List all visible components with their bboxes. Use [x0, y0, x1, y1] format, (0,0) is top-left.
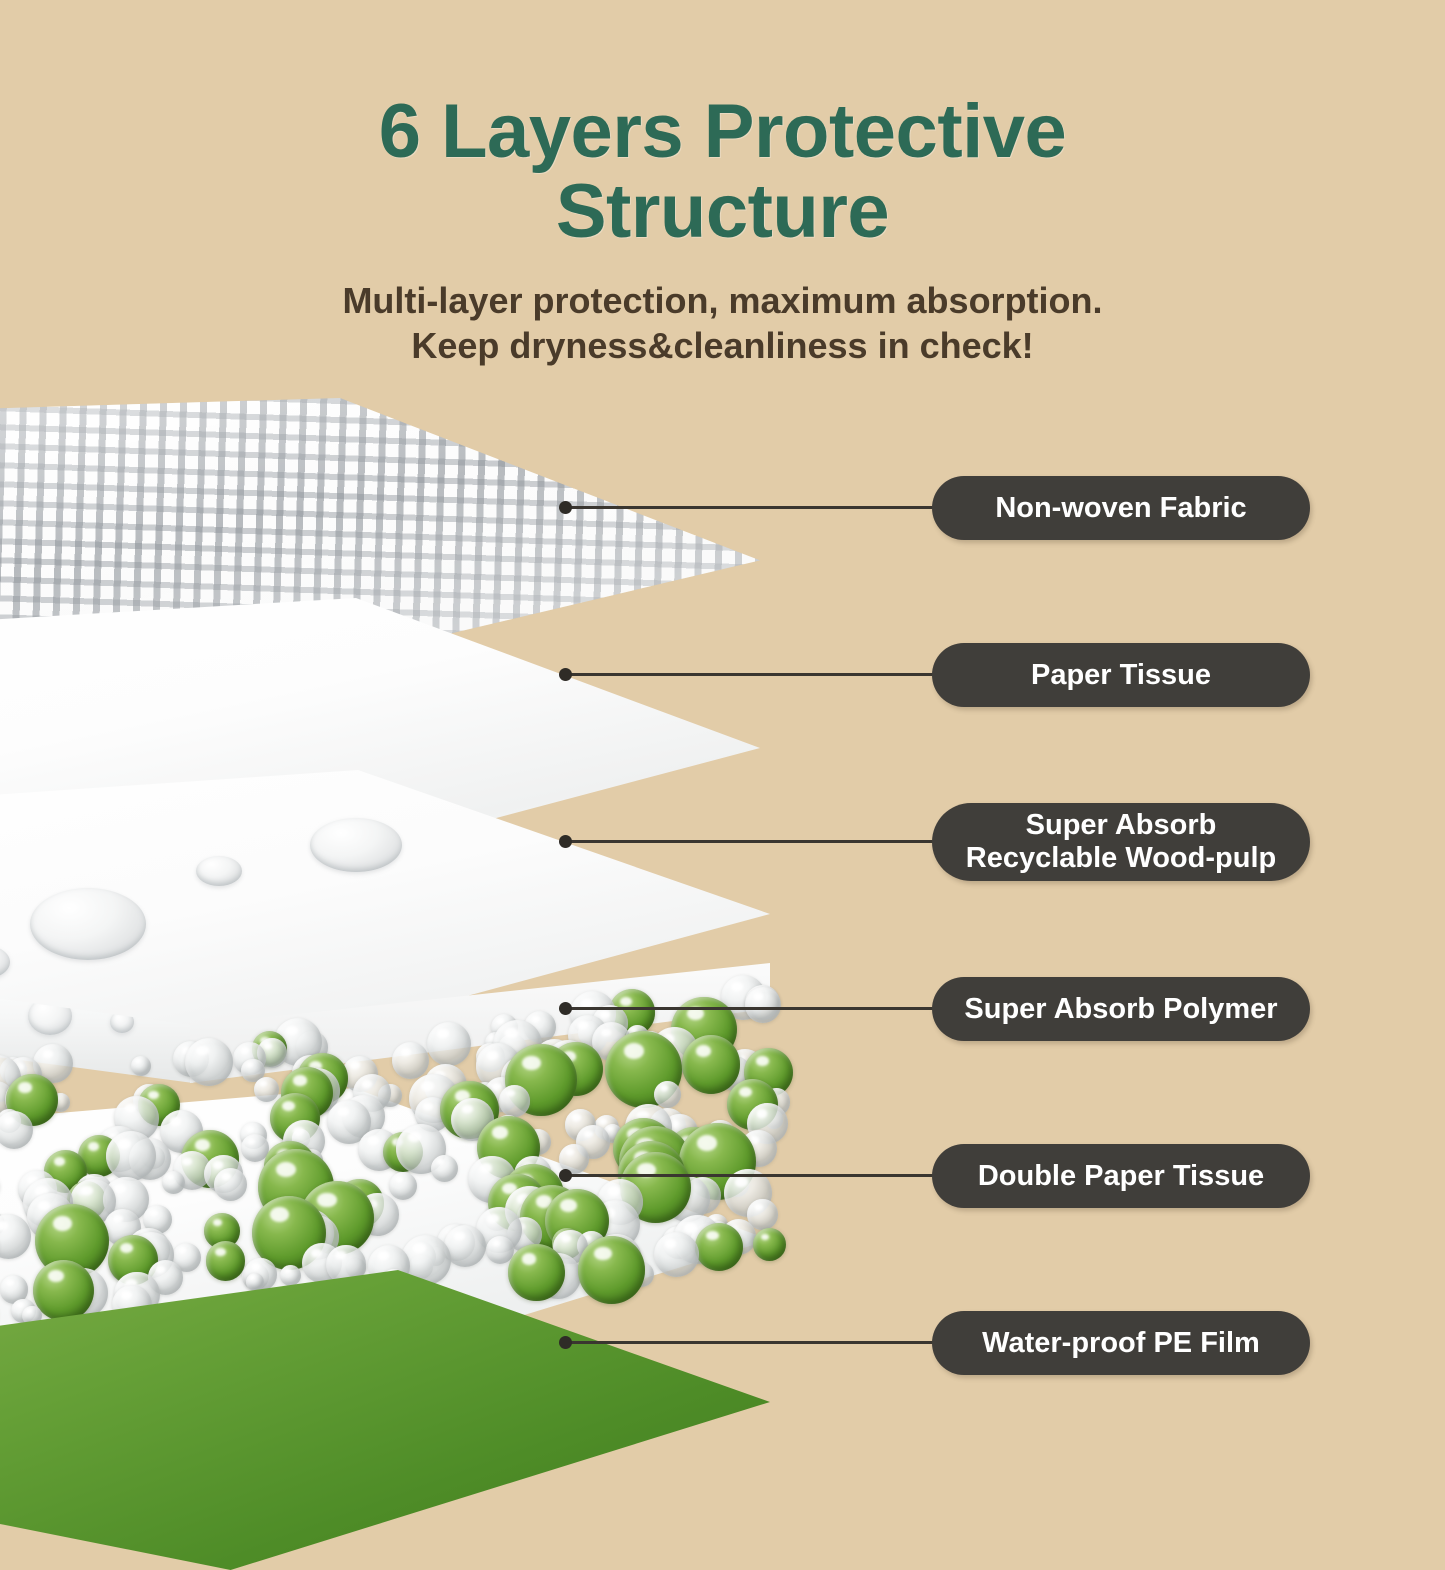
bead-highlight [378, 1251, 389, 1259]
polymer-bead [214, 1168, 247, 1201]
bead-highlight [118, 1139, 131, 1149]
bead-highlight [168, 1175, 174, 1180]
label-text-super-absorb-polymer: Super Absorb Polymer [964, 992, 1277, 1026]
bead-highlight [317, 1193, 336, 1208]
bead-highlight [572, 1114, 580, 1120]
bead-highlight [594, 1247, 612, 1261]
bead-highlight [493, 1240, 500, 1246]
leader-line-wood-pulp [564, 840, 936, 843]
bead-highlight [276, 1162, 296, 1177]
bead-highlight [522, 1056, 541, 1070]
bead-highlight [182, 1158, 192, 1166]
polymer-bead [246, 1273, 264, 1291]
label-pill-waterproof-pe-film[interactable]: Water-proof PE Film [932, 1311, 1310, 1375]
bead-highlight [608, 1127, 613, 1131]
polymer-bead [654, 1232, 699, 1277]
bead-highlight [665, 1239, 677, 1248]
polymer-bead [431, 1155, 458, 1182]
bead-highlight [293, 1127, 304, 1135]
bead-highlight [437, 1029, 448, 1038]
bead-highlight [462, 1105, 473, 1114]
leader-line-double-paper-tissue [564, 1174, 936, 1177]
bead-highlight [608, 1186, 620, 1195]
bead-highlight [731, 982, 743, 991]
bead-highlight [38, 1201, 50, 1210]
bead-highlight [246, 1126, 253, 1131]
polymer-bead [745, 987, 781, 1023]
polymer-bead [508, 1244, 565, 1301]
bead-highlight [578, 1021, 588, 1029]
label-text-wood-pulp-line-1: Super Absorb [1026, 809, 1217, 841]
leader-line-paper-tissue [564, 673, 936, 676]
bead-highlight [423, 1103, 432, 1110]
bead-highlight [600, 1011, 609, 1018]
bead-highlight [264, 1043, 272, 1049]
bead-highlight [179, 1247, 187, 1253]
layer-stack-illustration [0, 398, 820, 1445]
bead-highlight [6, 1280, 13, 1286]
bead-highlight [241, 1047, 250, 1054]
bead-highlight [260, 1081, 266, 1086]
bead-highlight [148, 1091, 159, 1099]
bead-highlight [335, 1251, 345, 1259]
label-text-waterproof-pe-film: Water-proof PE Film [982, 1326, 1260, 1360]
title-line-1: 6 Layers Protective [379, 89, 1067, 174]
polymer-bead [185, 1038, 233, 1086]
label-pill-wood-pulp[interactable]: Super Absorb Recyclable Wood-pulp [932, 803, 1310, 881]
bead-highlight [27, 1309, 32, 1313]
polymer-bead [392, 1042, 429, 1079]
bead-highlight [125, 1104, 137, 1113]
bead-highlight [156, 1266, 165, 1273]
bead-highlight [413, 1243, 426, 1253]
bead-highlight [338, 1107, 350, 1116]
polymer-bead [578, 1236, 646, 1304]
bead-highlight [761, 1234, 770, 1241]
bead-highlight [18, 1082, 31, 1092]
bead-highlight [136, 1059, 141, 1063]
bead-highlight [150, 1210, 158, 1216]
label-text-nonwoven-fabric: Non-woven Fabric [995, 491, 1246, 525]
bead-highlight [408, 1132, 421, 1142]
bead-highlight [624, 1043, 644, 1058]
bead-highlight [247, 1062, 253, 1067]
bead-highlight [362, 1080, 372, 1088]
subtitle-line-1: Multi-layer protection, maximum absorpti… [342, 280, 1102, 321]
bead-highlight [566, 1149, 574, 1155]
bead-highlight [311, 1249, 321, 1257]
bead-highlight [757, 1109, 768, 1117]
bead-highlight [81, 1186, 93, 1195]
bead-highlight [282, 1101, 295, 1111]
bead-highlight [195, 1139, 210, 1151]
title-line-2: Structure [0, 172, 1445, 252]
bead-highlight [286, 1026, 299, 1036]
bead-highlight [600, 1119, 607, 1124]
leader-line-waterproof-pe-film [564, 1341, 936, 1344]
bead-highlight [661, 1085, 668, 1090]
bead-highlight [454, 1232, 465, 1240]
bead-highlight [739, 1087, 752, 1097]
header: 6 Layers Protective Structure Multi-laye… [0, 0, 1445, 368]
water-droplet [310, 818, 402, 872]
bead-highlight [113, 1215, 123, 1223]
bead-highlight [487, 1051, 499, 1060]
bead-highlight [88, 1142, 99, 1150]
label-text-paper-tissue: Paper Tissue [1031, 658, 1211, 692]
bead-highlight [0, 1221, 8, 1230]
bead-highlight [121, 1291, 131, 1299]
bead-highlight [285, 1269, 291, 1273]
bead-highlight [215, 1248, 225, 1256]
page-subtitle: Multi-layer protection, maximum absorpti… [0, 252, 1445, 368]
leader-line-nonwoven-fabric [564, 506, 936, 509]
bead-highlight [222, 1173, 231, 1180]
polymer-bead [427, 1022, 471, 1066]
bead-highlight [492, 1126, 508, 1139]
label-text-wood-pulp: Super Absorb Recyclable Wood-pulp [966, 809, 1276, 875]
bead-highlight [480, 1163, 492, 1173]
polymer-bead [162, 1171, 185, 1194]
bead-highlight [48, 1270, 64, 1282]
bead-highlight [213, 1219, 222, 1226]
bead-highlight [487, 1214, 499, 1223]
polymer-bead [131, 1056, 152, 1077]
bead-highlight [4, 1117, 14, 1125]
bead-highlight [560, 1199, 577, 1212]
bead-highlight [697, 1135, 717, 1151]
bead-highlight [506, 1090, 514, 1096]
label-text-wood-pulp-line-2: Recyclable Wood-pulp [966, 842, 1276, 875]
polymer-bead [682, 1035, 741, 1094]
bead-highlight [170, 1117, 181, 1126]
bead-highlight [270, 1207, 289, 1222]
polymer-bead [753, 1228, 786, 1261]
polymer-bead [389, 1172, 417, 1200]
bead-highlight [421, 1081, 434, 1091]
label-pill-double-paper-tissue[interactable]: Double Paper Tissue [932, 1144, 1310, 1208]
bead-highlight [532, 1016, 540, 1022]
polymer-bead [206, 1241, 246, 1281]
water-droplet [196, 856, 242, 886]
bead-highlight [213, 1161, 223, 1169]
polymer-bead [280, 1265, 301, 1286]
bead-highlight [368, 1136, 379, 1144]
polymer-bead [254, 1077, 279, 1102]
polymer-bead [0, 1111, 33, 1149]
label-text-double-paper-tissue: Double Paper Tissue [978, 1159, 1264, 1193]
page-title: 6 Layers Protective Structure [0, 0, 1445, 252]
polymer-bead [499, 1085, 531, 1117]
bead-highlight [706, 1231, 719, 1241]
bead-highlight [735, 1177, 748, 1187]
bead-highlight [755, 1204, 763, 1210]
bead-highlight [396, 1177, 403, 1183]
leader-line-super-absorb-polymer [564, 1007, 936, 1010]
bead-highlight [620, 997, 632, 1006]
bead-highlight [437, 1159, 444, 1164]
bead-highlight [522, 1253, 537, 1264]
bead-highlight [505, 1028, 518, 1038]
subtitle-line-2: Keep dryness&cleanliness in check! [0, 323, 1445, 368]
bead-highlight [350, 1061, 360, 1068]
label-pill-nonwoven-fabric[interactable]: Non-woven Fabric [932, 476, 1310, 540]
bead-highlight [43, 1050, 53, 1058]
bead-highlight [17, 1302, 23, 1307]
bead-highlight [756, 1056, 769, 1066]
infographic-canvas: 6 Layers Protective Structure Multi-laye… [0, 0, 1445, 1445]
bead-highlight [696, 1045, 711, 1057]
bead-highlight [492, 1083, 501, 1090]
water-droplet [30, 888, 146, 960]
polymer-bead [654, 1081, 681, 1108]
bead-highlight [562, 1235, 571, 1242]
bead-highlight [401, 1048, 411, 1055]
bead-highlight [754, 993, 763, 1000]
bead-highlight [54, 1157, 65, 1166]
bead-highlight [196, 1046, 209, 1056]
bead-highlight [684, 1223, 697, 1233]
label-pill-paper-tissue[interactable]: Paper Tissue [932, 643, 1310, 707]
bead-highlight [250, 1275, 255, 1279]
bead-highlight [601, 1029, 611, 1037]
bead-highlight [53, 1216, 72, 1231]
bead-highlight [252, 1263, 260, 1270]
bead-highlight [293, 1075, 306, 1085]
bead-highlight [584, 1131, 593, 1138]
bead-highlight [120, 1243, 133, 1253]
bead-highlight [114, 1184, 126, 1193]
bead-highlight [248, 1139, 255, 1145]
polymer-bead [695, 1223, 743, 1271]
label-pill-super-absorb-polymer[interactable]: Super Absorb Polymer [932, 977, 1310, 1041]
